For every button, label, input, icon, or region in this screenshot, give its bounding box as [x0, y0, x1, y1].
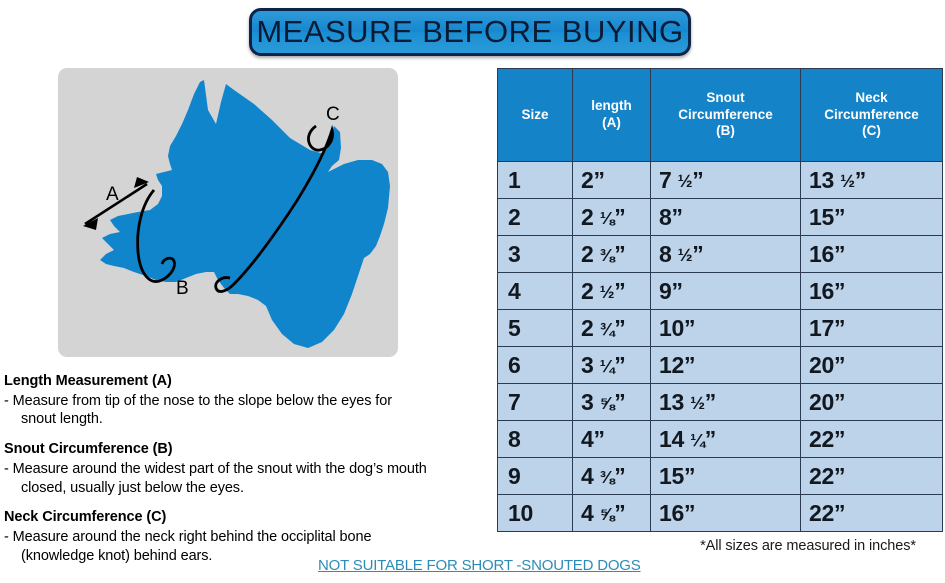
value-whole: 2 [581, 315, 594, 341]
column-header-snout-circumference: Snout Circumference (B) [651, 69, 801, 162]
value-whole: 10 [659, 315, 684, 341]
cell-snout: 7 ½” [651, 162, 801, 199]
table-row: 12”7 ½”13 ½” [498, 162, 943, 199]
cell-size: 8 [498, 421, 573, 458]
value-unit: ” [834, 426, 845, 452]
table-row: 73 ⅝”13 ½”20” [498, 384, 943, 421]
value-unit: ” [834, 278, 845, 304]
value-unit: ” [834, 500, 845, 526]
cell-length: 3 ⅝” [573, 384, 651, 421]
value-whole: 15 [659, 463, 684, 489]
value-unit: ” [834, 204, 845, 230]
column-header-neck-circumference: Neck Circumference (C) [801, 69, 943, 162]
value-unit: ” [614, 500, 625, 526]
instruction-heading: Length Measurement (A) [4, 372, 490, 391]
instruction-block-length: Length Measurement (A) - Measure from ti… [4, 372, 490, 429]
table-row: 22 ⅛”8”15” [498, 199, 943, 236]
value-unit: ” [855, 167, 866, 193]
value-unit: ” [684, 352, 695, 378]
value-fraction: ⅛ [600, 207, 615, 227]
value-unit: ” [684, 463, 695, 489]
value-fraction: ⅜ [600, 244, 615, 264]
instruction-heading: Snout Circumference (B) [4, 440, 490, 459]
value-whole: 14 [659, 426, 684, 452]
cell-snout: 15” [651, 458, 801, 495]
cell-neck: 17” [801, 310, 943, 347]
cell-size: 10 [498, 495, 573, 532]
value-whole: 9 [659, 278, 672, 304]
value-whole: 16 [809, 241, 834, 267]
instruction-text: - Measure around the widest part of the … [4, 460, 490, 498]
value-whole: 8 [659, 241, 672, 267]
value-fraction: ¼ [600, 355, 615, 375]
cell-size: 7 [498, 384, 573, 421]
instruction-block-snout: Snout Circumference (B) - Measure around… [4, 440, 490, 497]
title-banner: MEASURE BEFORE BUYING [249, 8, 691, 56]
instruction-line-1: - Measure around the widest part of the … [4, 461, 427, 477]
cell-length: 2 ⅛” [573, 199, 651, 236]
cell-length: 4” [573, 421, 651, 458]
value-unit: ” [834, 352, 845, 378]
header-line-3: (C) [862, 123, 881, 138]
value-unit: ” [692, 167, 703, 193]
value-fraction: ⅝ [600, 503, 615, 523]
dog-head-silhouette [100, 80, 390, 348]
value-fraction: ½ [690, 392, 705, 412]
cell-length: 3 ¼” [573, 347, 651, 384]
header-line-1: Neck [855, 90, 887, 105]
value-whole: 3 [581, 352, 594, 378]
cell-snout: 8 ½” [651, 236, 801, 273]
value-fraction: ¼ [690, 429, 705, 449]
table-row: 63 ¼”12”20” [498, 347, 943, 384]
value-unit: ” [834, 315, 845, 341]
value-fraction: ½ [678, 244, 693, 264]
cell-snout: 12” [651, 347, 801, 384]
value-fraction: ¾ [600, 318, 615, 338]
value-whole: 8 [659, 204, 672, 230]
cell-snout: 14 ¼” [651, 421, 801, 458]
header-line-1: length [591, 98, 632, 113]
value-fraction: ½ [600, 281, 615, 301]
value-whole: 22 [809, 463, 834, 489]
value-unit: ” [684, 500, 695, 526]
value-fraction: ⅝ [600, 392, 615, 412]
value-whole: 2 [581, 241, 594, 267]
instruction-text: - Measure from tip of the nose to the sl… [4, 392, 490, 430]
value-unit: ” [614, 352, 625, 378]
cell-neck: 13 ½” [801, 162, 943, 199]
cell-neck: 16” [801, 273, 943, 310]
instruction-line-1: - Measure around the neck right behind t… [4, 529, 371, 545]
cell-snout: 9” [651, 273, 801, 310]
cell-neck: 22” [801, 421, 943, 458]
value-whole: 4 [581, 463, 594, 489]
diagram-label-b: B [176, 278, 189, 299]
value-unit: ” [614, 278, 625, 304]
header-line-1: Size [521, 107, 548, 122]
value-whole: 16 [809, 278, 834, 304]
cell-length: 4 ⅜” [573, 458, 651, 495]
cell-neck: 15” [801, 199, 943, 236]
table-row: 52 ¾”10”17” [498, 310, 943, 347]
cell-neck: 20” [801, 384, 943, 421]
header-line-2: Circumference [678, 107, 773, 122]
value-whole: 7 [659, 167, 672, 193]
value-whole: 16 [659, 500, 684, 526]
diagram-label-a: A [106, 184, 119, 205]
cell-snout: 16” [651, 495, 801, 532]
value-unit: ” [705, 389, 716, 415]
value-whole: 22 [809, 426, 834, 452]
value-unit: ” [614, 463, 625, 489]
value-whole: 20 [809, 389, 834, 415]
value-whole: 3 [581, 389, 594, 415]
cell-size: 4 [498, 273, 573, 310]
cell-length: 2” [573, 162, 651, 199]
value-whole: 22 [809, 500, 834, 526]
cell-length: 4 ⅝” [573, 495, 651, 532]
value-whole: 17 [809, 315, 834, 341]
diagram-label-c: C [326, 104, 340, 125]
value-unit: ” [672, 204, 683, 230]
value-unit: ” [614, 204, 625, 230]
value-fraction: ½ [678, 170, 693, 190]
size-chart-table: Size length (A) Snout Circumference (B) … [497, 68, 943, 532]
cell-size: 6 [498, 347, 573, 384]
value-whole: 13 [809, 167, 834, 193]
instruction-line-1: - Measure from tip of the nose to the sl… [4, 393, 392, 409]
table-row: 32 ⅜”8 ½”16” [498, 236, 943, 273]
cell-snout: 10” [651, 310, 801, 347]
value-unit: ” [692, 241, 703, 267]
cell-snout: 8” [651, 199, 801, 236]
cell-size: 5 [498, 310, 573, 347]
table-row: 84”14 ¼”22” [498, 421, 943, 458]
not-suitable-warning-link[interactable]: NOT SUITABLE FOR SHORT -SNOUTED DOGS [318, 557, 641, 574]
value-unit: ” [834, 463, 845, 489]
header-line-2: (A) [602, 115, 621, 130]
cell-length: 2 ¾” [573, 310, 651, 347]
dog-head-illustration: A B C [58, 68, 398, 357]
instruction-line-2: snout length. [7, 410, 490, 429]
value-unit: ” [834, 389, 845, 415]
value-fraction: ½ [840, 170, 855, 190]
table-row: 94 ⅜”15”22” [498, 458, 943, 495]
header-line-1: Snout [706, 90, 744, 105]
dog-measurement-diagram: A B C [58, 68, 398, 357]
cell-size: 9 [498, 458, 573, 495]
page-title: MEASURE BEFORE BUYING [256, 14, 683, 50]
cell-neck: 20” [801, 347, 943, 384]
cell-snout: 13 ½” [651, 384, 801, 421]
value-unit: ” [684, 315, 695, 341]
value-fraction: ⅜ [600, 466, 615, 486]
cell-neck: 22” [801, 458, 943, 495]
value-unit: ” [834, 241, 845, 267]
value-whole: 13 [659, 389, 684, 415]
cell-size: 1 [498, 162, 573, 199]
cell-neck: 22” [801, 495, 943, 532]
header-line-3: (B) [716, 123, 735, 138]
instruction-line-2: closed, usually just below the eyes. [7, 479, 490, 498]
cell-size: 3 [498, 236, 573, 273]
value-whole: 4 [581, 426, 594, 452]
value-whole: 20 [809, 352, 834, 378]
value-whole: 12 [659, 352, 684, 378]
table-row: 104 ⅝”16”22” [498, 495, 943, 532]
cell-size: 2 [498, 199, 573, 236]
table-header: Size length (A) Snout Circumference (B) … [498, 69, 943, 162]
value-unit: ” [672, 278, 683, 304]
column-header-size: Size [498, 69, 573, 162]
table-row: 42 ½”9”16” [498, 273, 943, 310]
header-line-2: Circumference [824, 107, 919, 122]
value-unit: ” [614, 241, 625, 267]
instruction-heading: Neck Circumference (C) [4, 508, 490, 527]
value-unit: ” [705, 426, 716, 452]
instructions-panel: Length Measurement (A) - Measure from ti… [4, 372, 490, 577]
table-body: 12”7 ½”13 ½”22 ⅛”8”15”32 ⅜”8 ½”16”42 ½”9… [498, 162, 943, 532]
value-whole: 2 [581, 204, 594, 230]
table-header-row: Size length (A) Snout Circumference (B) … [498, 69, 943, 162]
all-sizes-inches-note: *All sizes are measured in inches* [673, 538, 943, 554]
value-whole: 15 [809, 204, 834, 230]
cell-length: 2 ⅜” [573, 236, 651, 273]
cell-neck: 16” [801, 236, 943, 273]
column-header-length: length (A) [573, 69, 651, 162]
value-unit: ” [614, 315, 625, 341]
value-whole: 4 [581, 500, 594, 526]
value-unit: ” [594, 167, 605, 193]
value-whole: 2 [581, 167, 594, 193]
value-unit: ” [614, 389, 625, 415]
value-whole: 2 [581, 278, 594, 304]
cell-length: 2 ½” [573, 273, 651, 310]
value-unit: ” [594, 426, 605, 452]
